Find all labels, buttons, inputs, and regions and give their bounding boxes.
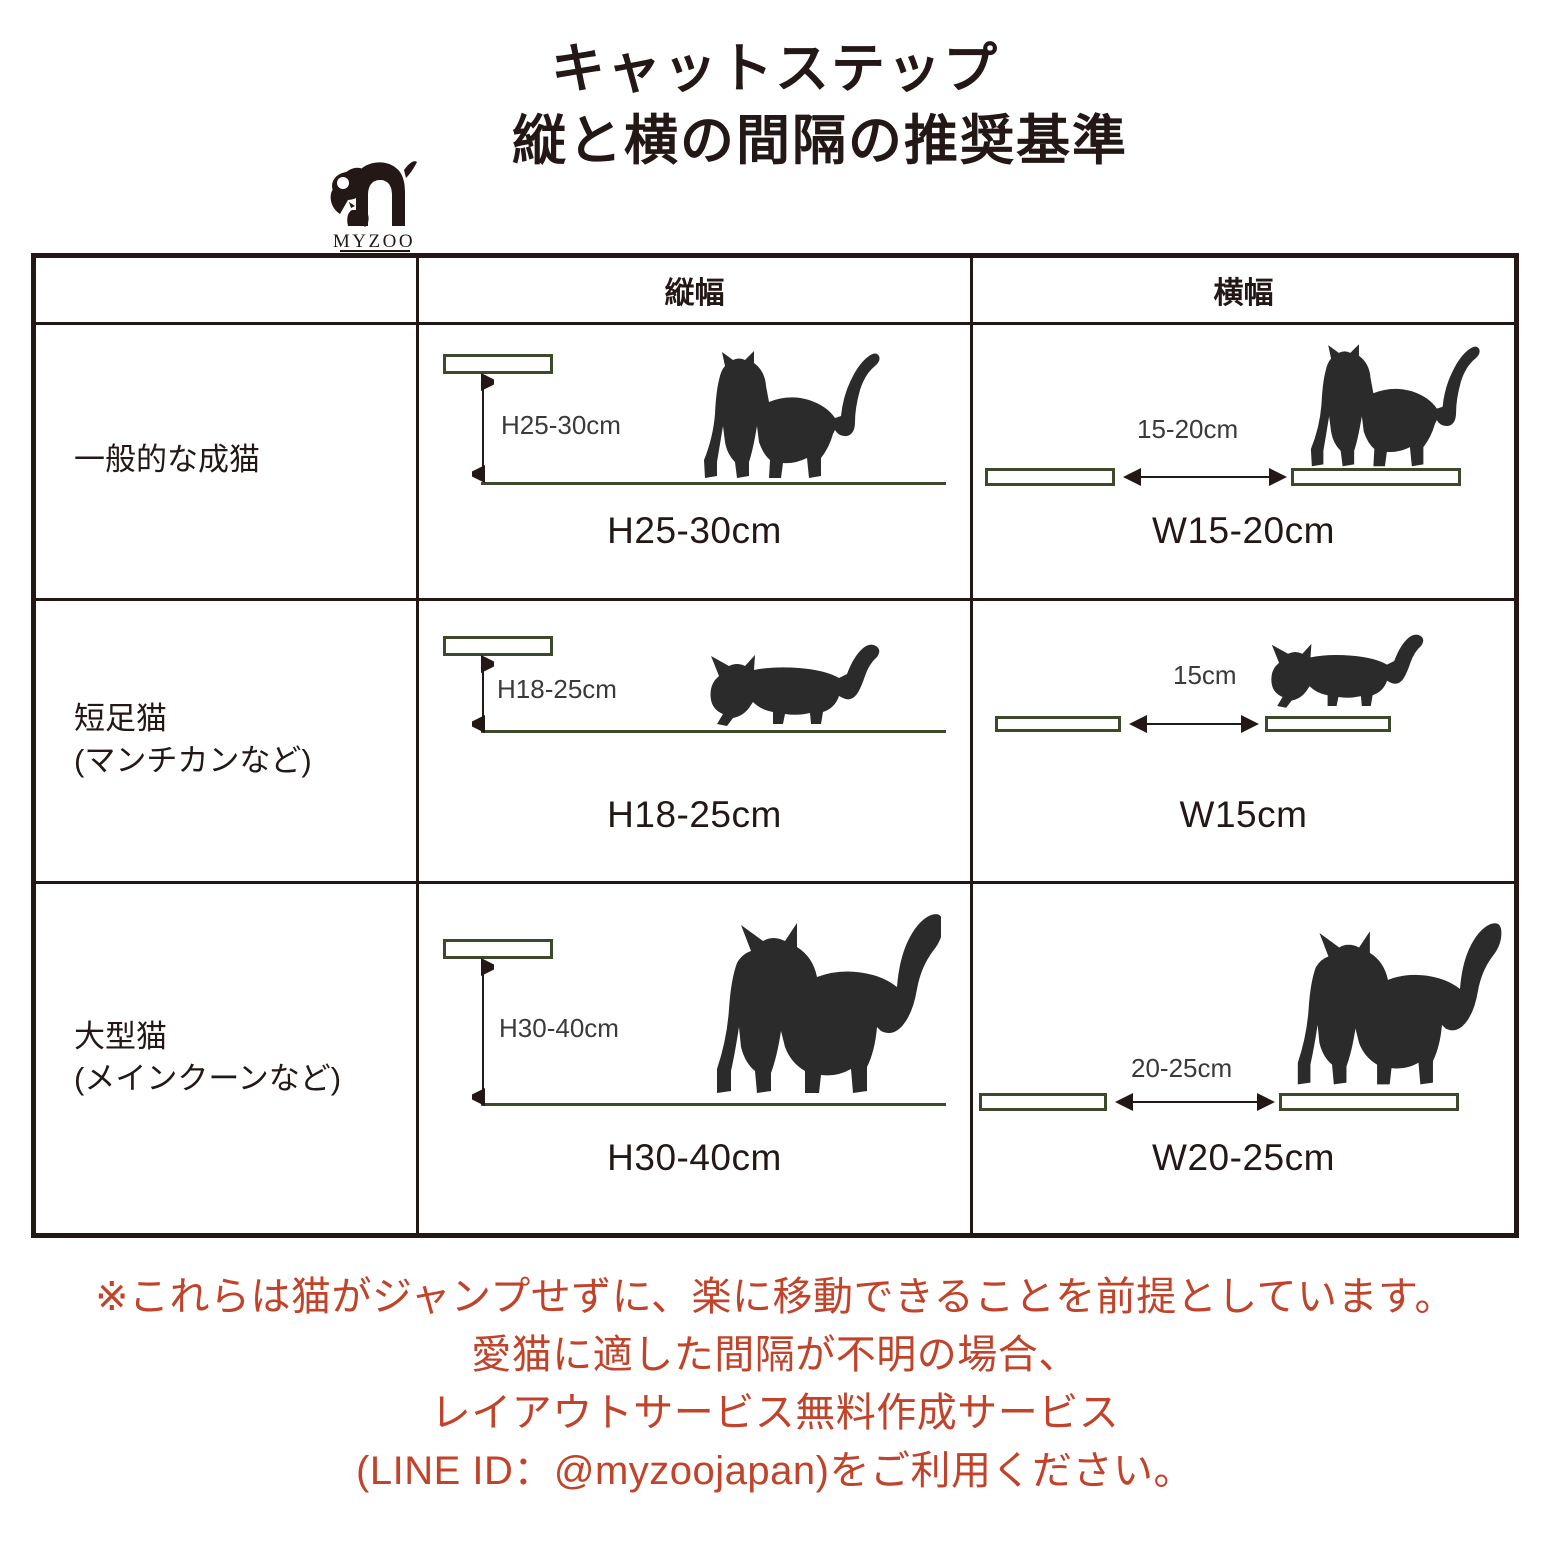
footer-line-1: ※これらは猫がジャンプせずに、楽に移動できることを前提としています。 — [0, 1268, 1550, 1326]
row-label-line2: (マンチカンなど) — [74, 740, 416, 782]
logo-wordmark: MYZOO — [333, 231, 415, 252]
cell-horizontal-row3: 20-25cm W20-25cm — [973, 881, 1514, 1235]
cat-silhouette-munchkin — [1261, 620, 1441, 720]
diagram-vertical-row3: H30-40cm H30-40cm — [419, 881, 970, 1235]
cell-vertical-row1: H25-30cm H25-30cm — [419, 322, 970, 598]
row-label-general-adult-cat: 一般的な成猫 — [36, 322, 416, 598]
caption-vertical-row1: H25-30cm — [419, 510, 970, 552]
cell-vertical-row2: H18-25cm H18-25cm — [419, 598, 970, 881]
shelf-left — [985, 468, 1115, 486]
dimension-label-horizontal-row3: 20-25cm — [1131, 1053, 1232, 1084]
row-label-line2: (メインクーンなど) — [74, 1058, 416, 1100]
shelf-upper — [443, 939, 553, 959]
footer-line-4: (LINE ID：@myzoojapan)をご利用ください。 — [0, 1442, 1550, 1500]
footer-line-2: 愛猫に適した間隔が不明の場合、 — [0, 1326, 1550, 1384]
vertical-dimension-arrow — [472, 372, 494, 484]
row-label-line1: 大型猫 — [74, 1016, 416, 1058]
shelf-left — [979, 1093, 1107, 1111]
caption-horizontal-row1: W15-20cm — [973, 510, 1514, 552]
dimension-label-vertical-row2: H18-25cm — [497, 674, 617, 705]
footer-line-3: レイアウトサービス無料作成サービス — [0, 1384, 1550, 1442]
vertical-dimension-arrow — [472, 957, 494, 1107]
shelf-upper — [443, 636, 553, 656]
diagram-horizontal-row2: 15cm W15cm — [973, 598, 1514, 881]
diagram-vertical-row1: H25-30cm H25-30cm — [419, 322, 970, 598]
cat-silhouette-maine-coon — [691, 885, 941, 1107]
page-title-line2: 縦と横の間隔の推奨基準 — [0, 114, 1550, 168]
column-header-horizontal: 横幅 — [973, 258, 1514, 322]
diagram-horizontal-row1: 15-20cm W15-20cm — [973, 322, 1514, 598]
caption-vertical-row2: H18-25cm — [419, 794, 970, 836]
cell-horizontal-row1: 15-20cm W15-20cm — [973, 322, 1514, 598]
dimension-label-horizontal-row2: 15cm — [1173, 660, 1237, 691]
horizontal-dimension-arrow — [1115, 466, 1295, 488]
dimension-label-vertical-row1: H25-30cm — [501, 410, 621, 441]
cell-vertical-row3: H30-40cm H30-40cm — [419, 881, 970, 1235]
horizontal-dimension-arrow — [1107, 1091, 1283, 1113]
page-title-line1: キャットステップ — [0, 42, 1550, 96]
cell-horizontal-row2: 15cm W15cm — [973, 598, 1514, 881]
footer-note: ※これらは猫がジャンプせずに、楽に移動できることを前提としています。 愛猫に適し… — [0, 1268, 1550, 1500]
caption-horizontal-row3: W20-25cm — [973, 1137, 1514, 1179]
row-label-short-legged-cat: 短足猫 (マンチカンなど) — [36, 598, 416, 881]
row-label-line1: 一般的な成猫 — [74, 439, 416, 481]
header: キャットステップ 縦と横の間隔の推奨基準 MYZOO — [0, 42, 1550, 222]
cat-silhouette-maine-coon — [1269, 897, 1505, 1097]
myzoo-logo: MYZOO — [318, 150, 430, 256]
row-label-large-cat: 大型猫 (メインクーンなど) — [36, 881, 416, 1235]
caption-horizontal-row2: W15cm — [973, 794, 1514, 836]
horizontal-dimension-arrow — [1121, 714, 1267, 734]
dimension-label-vertical-row3: H30-40cm — [499, 1013, 619, 1044]
diagram-horizontal-row3: 20-25cm W20-25cm — [973, 881, 1514, 1235]
shelf-upper — [443, 354, 553, 374]
recommendation-table: 縦幅 横幅 一般的な成猫 H25-30cm — [31, 253, 1519, 1238]
diagram-vertical-row2: H18-25cm H18-25cm — [419, 598, 970, 881]
vertical-dimension-arrow — [472, 654, 494, 734]
cat-silhouette-munchkin — [699, 634, 899, 734]
row-label-line1: 短足猫 — [74, 698, 416, 740]
caption-vertical-row3: H30-40cm — [419, 1137, 970, 1179]
dimension-label-horizontal-row1: 15-20cm — [1137, 414, 1238, 445]
infographic-page: キャットステップ 縦と横の間隔の推奨基準 MYZOO — [0, 0, 1550, 1550]
title-block: キャットステップ 縦と横の間隔の推奨基準 — [0, 42, 1550, 168]
cat-silhouette-standard — [669, 330, 889, 486]
cat-silhouette-standard — [1273, 324, 1493, 474]
shelf-left — [995, 716, 1121, 732]
column-header-vertical: 縦幅 — [419, 258, 970, 322]
